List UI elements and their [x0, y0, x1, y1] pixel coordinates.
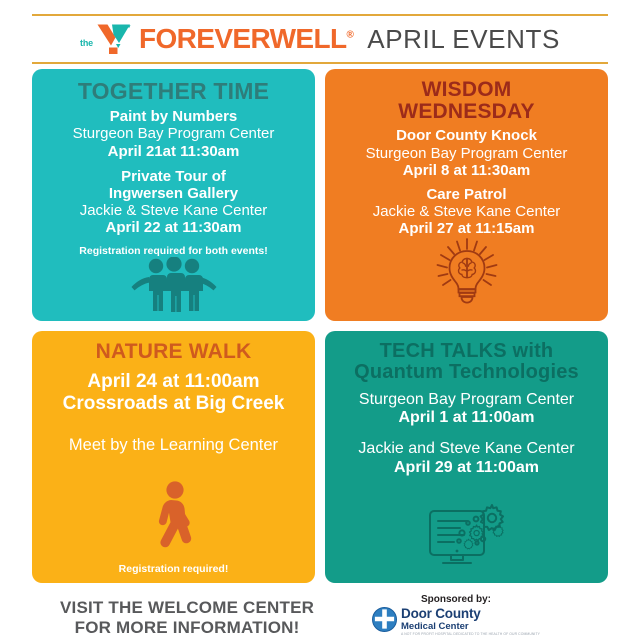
event-door-county-knock: Door County Knock Sturgeon Bay Program C… [366, 127, 568, 178]
panel-title-nature-walk: NATURE WALK [96, 341, 252, 363]
ymca-logo: the FOREVERWELL® [80, 22, 353, 56]
panel-nature-walk: NATURE WALK April 24 at 11:00am Crossroa… [32, 331, 315, 583]
medical-cross-circle-icon [372, 607, 397, 637]
event-place: Jackie & Steve Kane Center [373, 203, 561, 220]
three-people-icon [130, 257, 218, 313]
registered-mark: ® [347, 30, 354, 41]
nature-walk-line2: Crossroads at Big Creek [63, 393, 285, 415]
computer-gears-icon [421, 495, 513, 571]
header-rule-bottom [32, 62, 608, 64]
sponsor-block: Sponsored by: Door County Medical Center… [372, 594, 540, 637]
sponsor-name-line2: Medical Center [401, 622, 540, 632]
walking-person-icon [142, 481, 206, 559]
panel-title-wisdom-wednesday: WISDOM WEDNESDAY [398, 79, 534, 123]
event-date: April 27 at 11:15am [373, 220, 561, 237]
panel-tech-talks: TECH TALKS with Quantum Technologies Stu… [325, 331, 608, 583]
panel-title-line1: WISDOM [398, 79, 534, 101]
event-place: Jackie and Steve Kane Center [358, 440, 574, 458]
registration-note: Registration required for both events! [79, 245, 267, 257]
panel-grid: TOGETHER TIME Paint by Numbers Sturgeon … [32, 69, 608, 587]
event-place: Sturgeon Bay Program Center [359, 391, 574, 409]
event-name: Paint by Numbers [73, 108, 275, 125]
event-name: Care Patrol [373, 186, 561, 203]
sponsor-label: Sponsored by: [421, 594, 491, 605]
nature-walk-line1: April 24 at 11:00am [87, 371, 259, 393]
sponsor-name: Door County Medical Center A NOT FOR PRO… [401, 607, 540, 636]
welcome-center-cta: VISIT THE WELCOME CENTER FOR MORE INFORM… [60, 598, 314, 637]
event-private-tour: Private Tour of Ingwersen Gallery Jackie… [80, 168, 268, 236]
panel-title-line1: TECH TALKS with [354, 341, 579, 362]
cta-line2: FOR MORE INFORMATION! [60, 618, 314, 638]
ymca-y-icon [96, 22, 132, 56]
panel-together-time: TOGETHER TIME Paint by Numbers Sturgeon … [32, 69, 315, 321]
logo-the-text: the [80, 31, 93, 48]
cta-line1: VISIT THE WELCOME CENTER [60, 598, 314, 618]
sponsor-logo: Door County Medical Center A NOT FOR PRO… [372, 607, 540, 637]
event-date: April 1 at 11:00am [359, 409, 574, 427]
nature-walk-line3: Meet by the Learning Center [69, 436, 278, 455]
flyer-page: the FOREVERWELL® APRIL EVENTS TOGET [0, 0, 640, 640]
page-title: APRIL EVENTS [367, 26, 560, 52]
sponsor-tagline: A NOT FOR PROFIT HOSPITAL DEDICATED TO T… [401, 633, 540, 636]
lightbulb-brain-icon [430, 237, 504, 305]
event-name-line1: Private Tour of [80, 168, 268, 185]
event-tech-talks-kane-center: Jackie and Steve Kane Center April 29 at… [358, 440, 574, 476]
footer: VISIT THE WELCOME CENTER FOR MORE INFORM… [32, 594, 608, 638]
panel-title-together-time: TOGETHER TIME [78, 79, 269, 103]
event-care-patrol: Care Patrol Jackie & Steve Kane Center A… [373, 186, 561, 237]
event-date: April 22 at 11:30am [80, 219, 268, 236]
event-tech-talks-sturgeon-bay: Sturgeon Bay Program Center April 1 at 1… [359, 391, 574, 427]
sponsor-name-line1: Door County [401, 607, 540, 621]
panel-title-line2: Quantum Technologies [354, 362, 579, 383]
event-date: April 21at 11:30am [73, 143, 275, 160]
panel-title-tech-talks: TECH TALKS with Quantum Technologies [354, 341, 579, 383]
brand-name: FOREVERWELL® [139, 25, 353, 53]
event-name-line2: Ingwersen Gallery [80, 185, 268, 202]
event-place: Sturgeon Bay Program Center [366, 145, 568, 162]
event-place: Jackie & Steve Kane Center [80, 202, 268, 219]
panel-wisdom-wednesday: WISDOM WEDNESDAY Door County Knock Sturg… [325, 69, 608, 321]
panel-title-line2: WEDNESDAY [398, 101, 534, 123]
event-name: Door County Knock [366, 127, 568, 144]
event-date: April 29 at 11:00am [358, 459, 574, 477]
event-place: Sturgeon Bay Program Center [73, 125, 275, 142]
event-date: April 8 at 11:30am [366, 162, 568, 179]
event-paint-by-numbers: Paint by Numbers Sturgeon Bay Program Ce… [73, 108, 275, 159]
registration-note: Registration required! [119, 563, 229, 575]
header: the FOREVERWELL® APRIL EVENTS [32, 14, 608, 64]
